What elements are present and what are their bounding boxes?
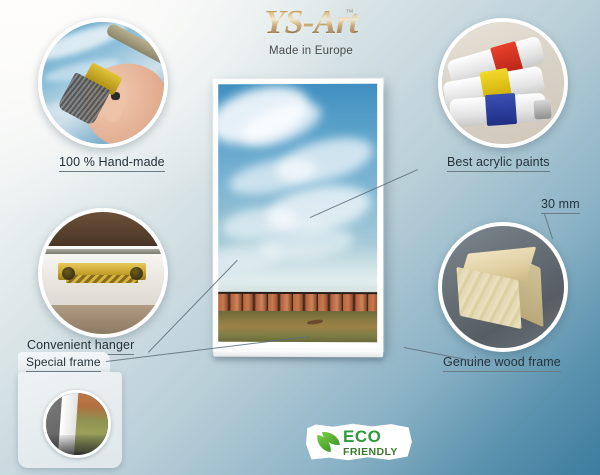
hanger-sawtooth	[66, 275, 138, 283]
table-surface	[42, 305, 164, 334]
frame-bottom-edge	[213, 350, 383, 358]
eco-line-1: ECO	[343, 428, 398, 445]
feature-label-paints: Best acrylic paints	[447, 155, 550, 172]
leaf-icon	[314, 430, 340, 454]
eco-line-2: FRIENDLY	[343, 447, 398, 458]
feature-image-handmade	[38, 18, 168, 148]
hanger-screw	[130, 267, 143, 280]
hand-with-brush-icon	[42, 22, 164, 144]
infographic-canvas: YS-Art ™ Made in Europe	[0, 0, 600, 475]
tube-cap	[533, 99, 551, 119]
eco-friendly-badge: ECO FRIENDLY	[305, 423, 413, 461]
painting-canvas	[218, 84, 377, 343]
brand-logo: YS-Art ™ Made in Europe	[226, 6, 396, 57]
frame-profile-icon	[43, 390, 111, 458]
feature-image-paints	[438, 18, 568, 148]
frame-profile-shadow	[46, 435, 108, 455]
wood-block-icon	[442, 226, 564, 348]
badge-text: ECO FRIENDLY	[343, 428, 398, 458]
special-frame-label: Special frame	[26, 355, 101, 372]
frame-rail	[42, 249, 164, 254]
trademark-symbol: ™	[346, 8, 354, 17]
special-frame-card	[18, 372, 122, 468]
product-painting	[213, 79, 383, 352]
logo-text: YS-Art	[264, 4, 357, 41]
tube-label-blue	[485, 93, 517, 126]
hanger-screw	[62, 267, 75, 280]
thickness-label: 30 mm	[541, 197, 580, 214]
brand-tagline: Made in Europe	[226, 45, 396, 57]
feature-image-hanger	[38, 208, 168, 338]
sawtooth-hanger-icon	[42, 212, 164, 334]
paint-tubes-icon	[442, 22, 564, 144]
feature-label-handmade: 100 % Hand-made	[59, 155, 165, 172]
horizon-haze	[218, 244, 377, 296]
feature-image-wood	[438, 222, 568, 352]
背景-top	[42, 212, 164, 246]
